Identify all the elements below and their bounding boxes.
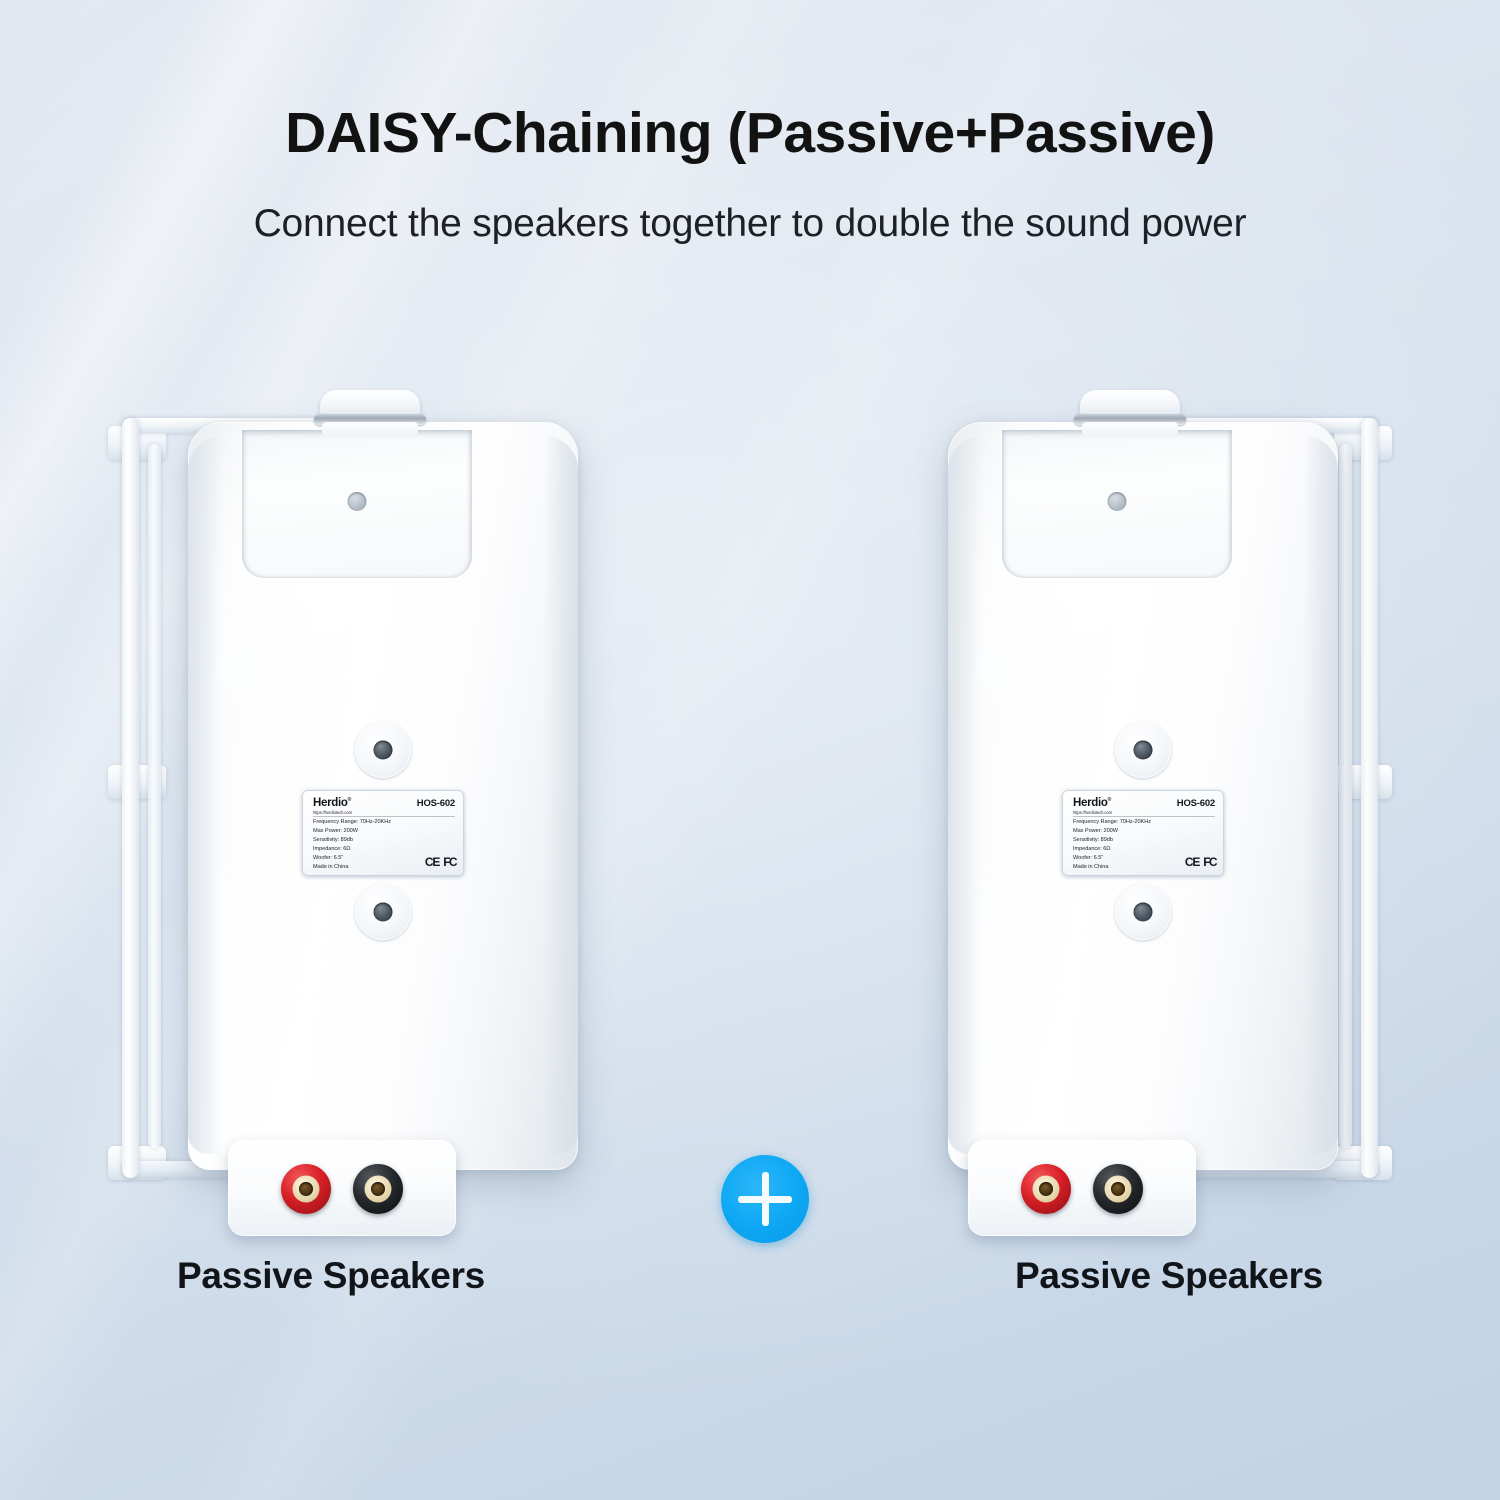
positive-terminal-right xyxy=(1021,1164,1071,1214)
registered-mark: ® xyxy=(1108,797,1111,803)
certification-marks: CE FC xyxy=(1185,855,1216,869)
binding-post-group-left xyxy=(281,1164,403,1214)
spec-label-header: Herdio® HOS-602 xyxy=(1073,797,1215,809)
mounting-screw-lower xyxy=(355,884,411,940)
page-subtitle: Connect the speakers together to double … xyxy=(0,202,1500,246)
pivot-knob-base xyxy=(322,422,418,436)
spec-max-power: Max Power: 200W xyxy=(1073,827,1215,836)
cabinet-bevel-left xyxy=(948,436,982,1154)
bracket-pivot-knob-left xyxy=(312,390,428,434)
mounting-screw-upper xyxy=(1115,722,1171,778)
spec-max-power: Max Power: 200W xyxy=(313,827,455,836)
negative-terminal-left xyxy=(353,1164,403,1214)
plus-bar-vertical xyxy=(762,1172,769,1226)
binding-post-group-right xyxy=(1021,1164,1143,1214)
cabinet-top-recess xyxy=(242,430,472,578)
model-number: HOS-602 xyxy=(1177,798,1215,809)
ce-mark-icon: CE xyxy=(1185,855,1199,869)
fcc-mark-icon: FC xyxy=(443,855,456,869)
mounting-screw-upper xyxy=(355,722,411,778)
registered-mark: ® xyxy=(348,797,351,803)
terminal-cup-right xyxy=(968,1140,1196,1236)
brand-name: Herdio® xyxy=(1073,797,1111,809)
caption-right-speaker: Passive Speakers xyxy=(750,1255,1500,1297)
fcc-mark-icon: FC xyxy=(1203,855,1216,869)
recess-vent-dot xyxy=(1108,492,1127,511)
brand-name: Herdio® xyxy=(313,797,351,809)
spec-divider xyxy=(1073,816,1215,817)
speaker-unit-right: Herdio® HOS-602 https://herdiotech.com F… xyxy=(860,390,1400,1220)
spec-frequency-range: Frequency Range: 70Hz-20KHz xyxy=(1073,818,1215,827)
spec-label-right: Herdio® HOS-602 https://herdiotech.com F… xyxy=(1062,790,1224,876)
brand-url: https://herdiotech.com xyxy=(313,810,455,815)
speaker-unit-left: Herdio® HOS-602 https://herdiotech.com F… xyxy=(100,390,640,1220)
spec-label-header: Herdio® HOS-602 xyxy=(313,797,455,809)
bracket-pivot-knob-right xyxy=(1072,390,1188,434)
brand-url: https://herdiotech.com xyxy=(1073,810,1215,815)
recess-vent-dot xyxy=(348,492,367,511)
bracket-arm-outer xyxy=(1361,418,1378,1178)
spec-sensitivity: Sensitivity: 89db xyxy=(313,836,455,845)
spec-frequency-range: Frequency Range: 70Hz-20KHz xyxy=(313,818,455,827)
pivot-knob-base xyxy=(1082,422,1178,436)
plus-icon xyxy=(721,1155,809,1243)
certification-marks: CE FC xyxy=(425,855,456,869)
positive-terminal-left xyxy=(281,1164,331,1214)
spec-divider xyxy=(313,816,455,817)
cabinet-bevel-right xyxy=(544,436,578,1154)
header: DAISY-Chaining (Passive+Passive) Connect… xyxy=(0,0,1500,246)
speaker-cabinet-left: Herdio® HOS-602 https://herdiotech.com F… xyxy=(188,422,578,1170)
page-title: DAISY-Chaining (Passive+Passive) xyxy=(0,104,1500,164)
spec-impedance: Impedance: 6Ω xyxy=(1073,845,1215,854)
negative-terminal-right xyxy=(1093,1164,1143,1214)
bracket-arm-inner xyxy=(148,444,161,1148)
cabinet-bevel-right xyxy=(1304,436,1338,1154)
cabinet-top-recess xyxy=(1002,430,1232,578)
bracket-arm-inner xyxy=(1339,444,1352,1148)
speaker-cabinet-right: Herdio® HOS-602 https://herdiotech.com F… xyxy=(948,422,1338,1170)
mounting-screw-lower xyxy=(1115,884,1171,940)
caption-row: Passive Speakers Passive Speakers xyxy=(0,1255,1500,1297)
terminal-cup-left xyxy=(228,1140,456,1236)
spec-sensitivity: Sensitivity: 89db xyxy=(1073,836,1215,845)
product-stage: Herdio® HOS-602 https://herdiotech.com F… xyxy=(0,390,1500,1220)
spec-impedance: Impedance: 6Ω xyxy=(313,845,455,854)
cabinet-bevel-left xyxy=(188,436,222,1154)
spec-label-left: Herdio® HOS-602 https://herdiotech.com F… xyxy=(302,790,464,876)
bracket-arm-outer xyxy=(122,418,139,1178)
model-number: HOS-602 xyxy=(417,798,455,809)
ce-mark-icon: CE xyxy=(425,855,439,869)
caption-left-speaker: Passive Speakers xyxy=(0,1255,750,1297)
